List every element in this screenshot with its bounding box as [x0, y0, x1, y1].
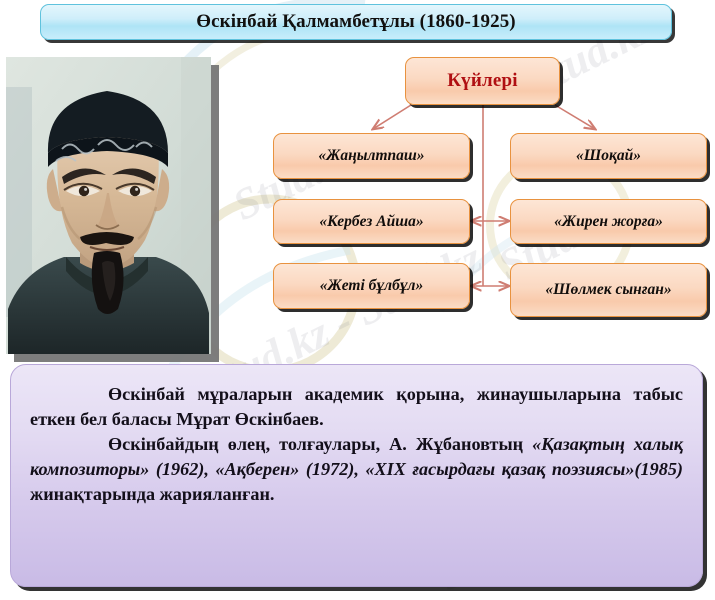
- description-text: Өскінбай мұраларын академик қорына, жина…: [30, 382, 683, 507]
- diagram-node-zheti-bulbul[interactable]: «Жеті бұлбұл»: [273, 263, 470, 309]
- slide-canvas: Stud.kz Stud.kz - Stud.kz Stud.kz Stud.k…: [0, 0, 715, 600]
- diagram-node-label: «Шөлмек сынған»: [539, 281, 677, 298]
- diagram-node-root[interactable]: Күйлері: [405, 57, 560, 105]
- diagram-node-label: «Жаңылтпаш»: [312, 147, 430, 164]
- diagram-node-kerbez-aisha[interactable]: «Кербез Айша»: [273, 199, 470, 244]
- diagram-node-label: «Шоқай»: [570, 147, 647, 164]
- diagram-node-label: «Жирен жорға»: [548, 213, 669, 230]
- page-title: Өскінбай Қалмамбетұлы (1860-1925): [196, 11, 515, 33]
- diagram-node-zhanyltpash[interactable]: «Жаңылтпаш»: [273, 133, 470, 179]
- portrait-image: [6, 57, 211, 354]
- description-paragraph-2-lead: Өскінбайдың өлең, толғаулары, А. Жұбанов…: [108, 434, 532, 454]
- diagram-node-label: «Жеті бұлбұл»: [314, 277, 430, 294]
- kuileri-diagram: Күйлері «Жаңылтпаш» «Шоқай» «Кербез Айша…: [265, 57, 715, 342]
- description-paragraph-1: Өскінбай мұраларын академик қорына, жина…: [30, 382, 683, 432]
- diagram-node-sholmek-syngan[interactable]: «Шөлмек сынған»: [510, 263, 707, 317]
- diagram-node-root-label: Күйлері: [441, 70, 524, 91]
- portrait-artwork: [6, 57, 211, 354]
- description-panel: Өскінбай мұраларын академик қорына, жина…: [10, 364, 703, 587]
- diagram-node-zhiren-zhorga[interactable]: «Жирен жорға»: [510, 199, 707, 244]
- slide-title-banner: Өскінбай Қалмамбетұлы (1860-1925): [40, 4, 672, 40]
- description-paragraph-2-tail: жинақтарында жарияланған.: [30, 484, 274, 504]
- diagram-node-label: «Кербез Айша»: [313, 213, 429, 230]
- diagram-node-shoqai[interactable]: «Шоқай»: [510, 133, 707, 179]
- description-paragraph-2: Өскінбайдың өлең, толғаулары, А. Жұбанов…: [30, 432, 683, 507]
